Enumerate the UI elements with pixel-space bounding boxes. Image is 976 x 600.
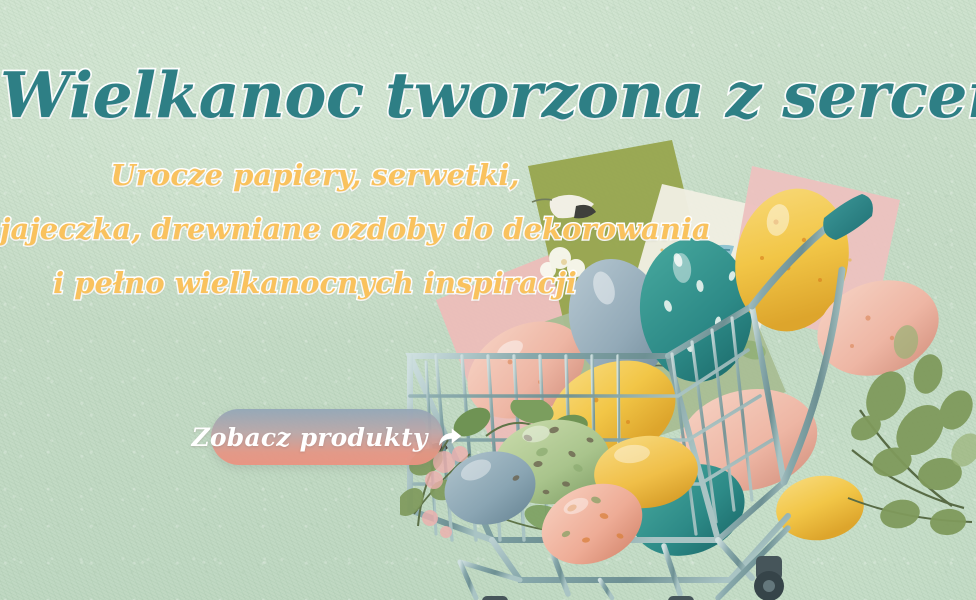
easter-promo-banner: Wielkanoc tworzona z sercem Urocze papie… [0,0,976,600]
subtitle-line-1: Urocze papiery, serwetki, [0,148,630,202]
page-title: Wielkanoc tworzona z sercem [0,58,976,132]
subtitle-line-3: i pełno wielkanocnych inspiracji [0,256,630,310]
subtitle-line-2: jajeczka, drewniane ozdoby do dekorowani… [0,202,630,256]
curved-arrow-right-icon [437,424,463,450]
view-products-label: Zobacz produkty [191,423,427,452]
subtitle-block: Urocze papiery, serwetki, jajeczka, drew… [0,148,630,310]
view-products-button[interactable]: Zobacz produkty [211,409,443,465]
